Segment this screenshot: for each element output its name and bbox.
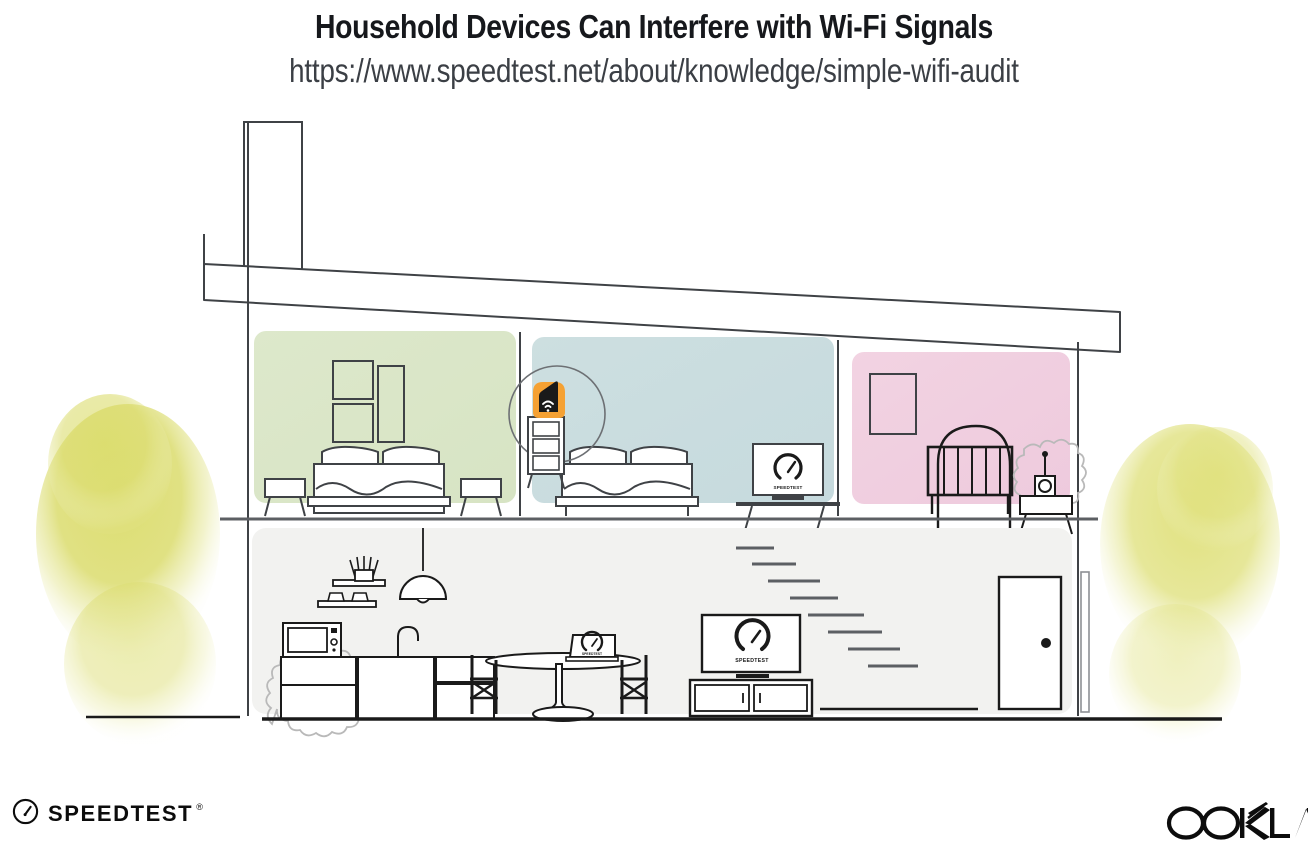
room-bedroom-green xyxy=(254,331,516,516)
door-knob-icon xyxy=(1041,638,1051,648)
ground-line xyxy=(86,717,1222,719)
foliage-left xyxy=(36,394,220,744)
window xyxy=(1081,572,1089,712)
source-url: https://www.speedtest.net/about/knowledg… xyxy=(105,46,1204,90)
bed xyxy=(308,447,450,513)
tv-speedtest[interactable]: SPEEDTEST xyxy=(702,615,800,678)
header: Household Devices Can Interfere with Wi-… xyxy=(0,0,1308,90)
speedtest-gauge-icon xyxy=(12,798,39,830)
infographic-page: Household Devices Can Interfere with Wi-… xyxy=(0,0,1308,861)
tv-screen-logo-text: SPEEDTEST xyxy=(735,658,769,664)
monitor-speedtest[interactable]: SPEEDTEST xyxy=(753,444,823,500)
room-nursery-pink xyxy=(852,352,1086,556)
foliage-right xyxy=(1100,424,1280,744)
laptop-screen-logo-text: SPEEDTEST xyxy=(582,652,603,656)
ookla-wordmark-icon xyxy=(1164,800,1308,844)
speedtest-trademark: ® xyxy=(196,802,203,812)
footer: SPEEDTEST ® xyxy=(0,780,1308,861)
house-illustration: SPEEDTEST xyxy=(0,104,1308,744)
laptop-speedtest[interactable]: SPEEDTEST xyxy=(566,632,618,661)
speedtest-wordmark: SPEEDTEST xyxy=(48,801,193,827)
media-console xyxy=(690,680,812,716)
nightstand-right xyxy=(461,479,501,516)
front-door[interactable] xyxy=(999,577,1061,709)
microwave-icon[interactable] xyxy=(283,623,341,657)
room-bedroom-blue: SPEEDTEST xyxy=(532,337,840,548)
wifi-router-icon[interactable] xyxy=(533,381,565,418)
monitor-screen-logo-text: SPEEDTEST xyxy=(773,485,802,490)
page-title: Household Devices Can Interfere with Wi-… xyxy=(92,0,1217,46)
room-living-kitchen: SPEEDTEST xyxy=(252,528,1072,736)
chimney xyxy=(244,122,302,274)
speedtest-logo: SPEEDTEST ® xyxy=(12,798,203,830)
ookla-logo xyxy=(1164,800,1308,844)
nightstand-left xyxy=(265,479,305,516)
